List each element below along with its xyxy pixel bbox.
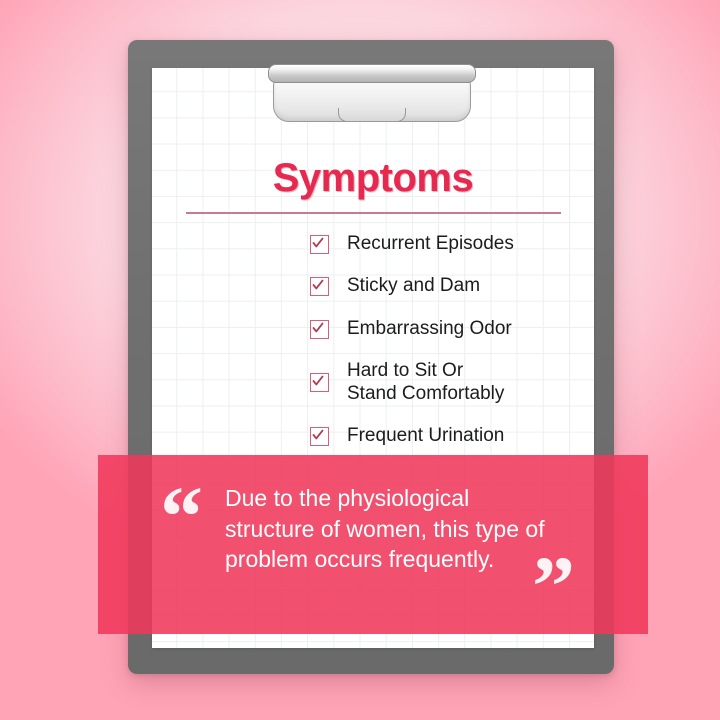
checkbox-checked-icon[interactable]: [310, 373, 329, 392]
list-item-label: Embarrassing Odor: [347, 318, 512, 340]
list-item-label: Sticky and Dam: [347, 275, 480, 297]
list-item-label: Hard to Sit Or Stand Comfortably: [347, 360, 504, 405]
clip-notch: [338, 108, 406, 122]
checkbox-checked-icon[interactable]: [310, 235, 329, 254]
title-divider: [186, 212, 561, 214]
symptom-checklist: Recurrent Episodes Sticky and Dam: [310, 233, 590, 447]
checkbox-checked-icon[interactable]: [310, 427, 329, 446]
list-item[interactable]: Hard to Sit Or Stand Comfortably: [310, 360, 590, 405]
list-item[interactable]: Sticky and Dam: [310, 275, 590, 297]
list-item[interactable]: Frequent Urination: [310, 425, 590, 447]
poster-canvas: Symptoms Recurrent Episodes: [0, 0, 720, 720]
quote-banner: “ Due to the physiological structure of …: [98, 455, 648, 634]
clip-bar: [268, 64, 476, 83]
quote-text: Due to the physiological structure of wo…: [225, 483, 585, 575]
page-title: Symptoms: [152, 156, 594, 201]
list-item-label: Frequent Urination: [347, 425, 504, 447]
headline-block: Symptoms: [152, 156, 594, 214]
quote-open-icon: “: [160, 473, 203, 559]
list-item[interactable]: Embarrassing Odor: [310, 318, 590, 340]
list-item[interactable]: Recurrent Episodes: [310, 233, 590, 255]
quote-close-icon: ”: [532, 543, 575, 629]
checkbox-checked-icon[interactable]: [310, 277, 329, 296]
list-item-label: Recurrent Episodes: [347, 233, 514, 255]
clipboard-clip[interactable]: [268, 64, 474, 120]
checkbox-checked-icon[interactable]: [310, 320, 329, 339]
